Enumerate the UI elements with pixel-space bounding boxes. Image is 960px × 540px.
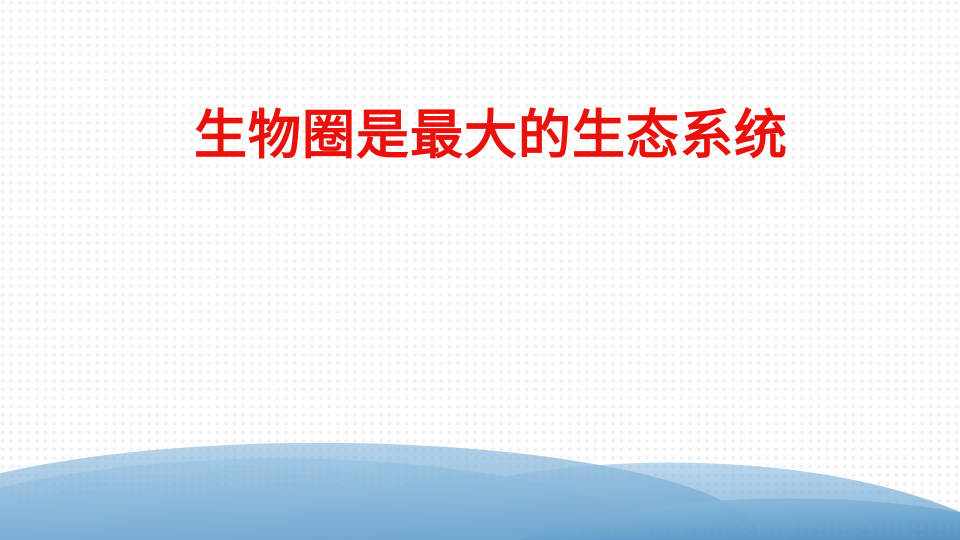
blue-wave-hills-decoration	[0, 360, 960, 540]
presentation-slide: 生物圈是最大的生态系统	[0, 0, 960, 540]
title-block: 生物圈是最大的生态系统	[0, 104, 960, 168]
page-title: 生物圈是最大的生态系统	[172, 104, 788, 168]
